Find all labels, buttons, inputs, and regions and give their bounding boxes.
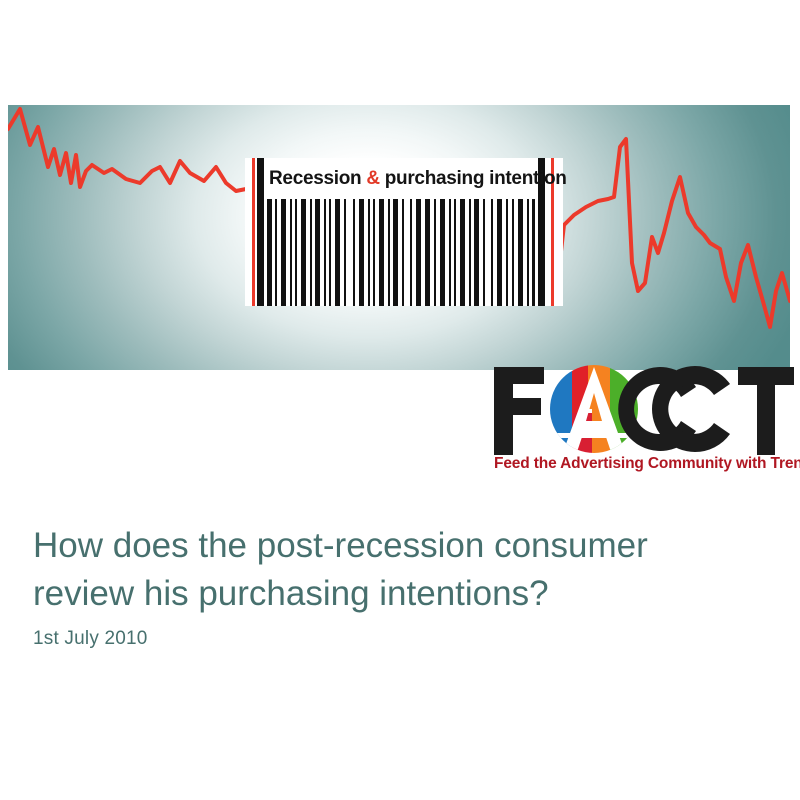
barcode-bar — [518, 199, 523, 306]
barcode-bar — [440, 199, 445, 306]
barcode-guard-black-left — [257, 158, 264, 306]
barcode-bar — [290, 199, 292, 306]
barcode-bar — [301, 199, 306, 306]
logo-letter-t — [738, 367, 794, 455]
logo-letter-f — [494, 367, 544, 455]
barcode-bar — [379, 199, 384, 306]
barcode-title-ampersand: & — [366, 168, 379, 189]
barcode-bar — [324, 199, 326, 306]
barcode-bar — [267, 199, 272, 306]
barcode-bar — [281, 199, 286, 306]
barcode-bar — [315, 199, 320, 306]
hero-banner-image: Recession & purchasing intention — [8, 105, 790, 370]
barcode-bar — [512, 199, 514, 306]
barcode-bar — [527, 199, 529, 306]
barcode-bar — [275, 199, 277, 306]
barcode-bar — [474, 199, 479, 306]
page-title: How does the post-recession consumer rev… — [33, 522, 753, 618]
barcode-bar — [359, 199, 364, 306]
barcode-bar — [388, 199, 390, 306]
barcode-graphic: Recession & purchasing intention — [245, 158, 563, 306]
fact-tagline: Feed the Advertising Community with Tren… — [494, 455, 796, 473]
barcode-bar — [460, 199, 465, 306]
barcode-bar — [416, 199, 421, 306]
barcode-bar — [449, 199, 451, 306]
barcode-bars — [267, 199, 535, 306]
barcode-bar — [310, 199, 312, 306]
fact-wordmark — [490, 363, 796, 455]
barcode-guard-red-left — [252, 158, 255, 306]
presentation-date: 1st July 2010 — [33, 628, 148, 650]
barcode-bar — [295, 199, 297, 306]
barcode-bar — [353, 199, 355, 306]
barcode-bar — [335, 199, 340, 306]
trend-line-right — [556, 139, 790, 327]
barcode-bar — [410, 199, 412, 306]
barcode-bar — [491, 199, 493, 306]
barcode-bar — [393, 199, 398, 306]
barcode-bar — [329, 199, 331, 306]
barcode-title-suffix: purchasing intention — [380, 168, 567, 189]
barcode-bar — [373, 199, 375, 306]
barcode-bar — [454, 199, 456, 306]
barcode-bar — [368, 199, 370, 306]
barcode-bar — [469, 199, 471, 306]
barcode-bar — [402, 199, 404, 306]
fact-logo: Feed the Advertising Community with Tren… — [490, 363, 796, 478]
barcode-bar — [506, 199, 508, 306]
barcode-bar — [497, 199, 502, 306]
barcode-title: Recession & purchasing intention — [269, 162, 535, 195]
barcode-title-prefix: Recession — [269, 168, 366, 189]
barcode-bar — [344, 199, 346, 306]
barcode-bar — [425, 199, 430, 306]
barcode-bar — [434, 199, 436, 306]
barcode-bar — [483, 199, 485, 306]
barcode-bar — [532, 199, 535, 306]
